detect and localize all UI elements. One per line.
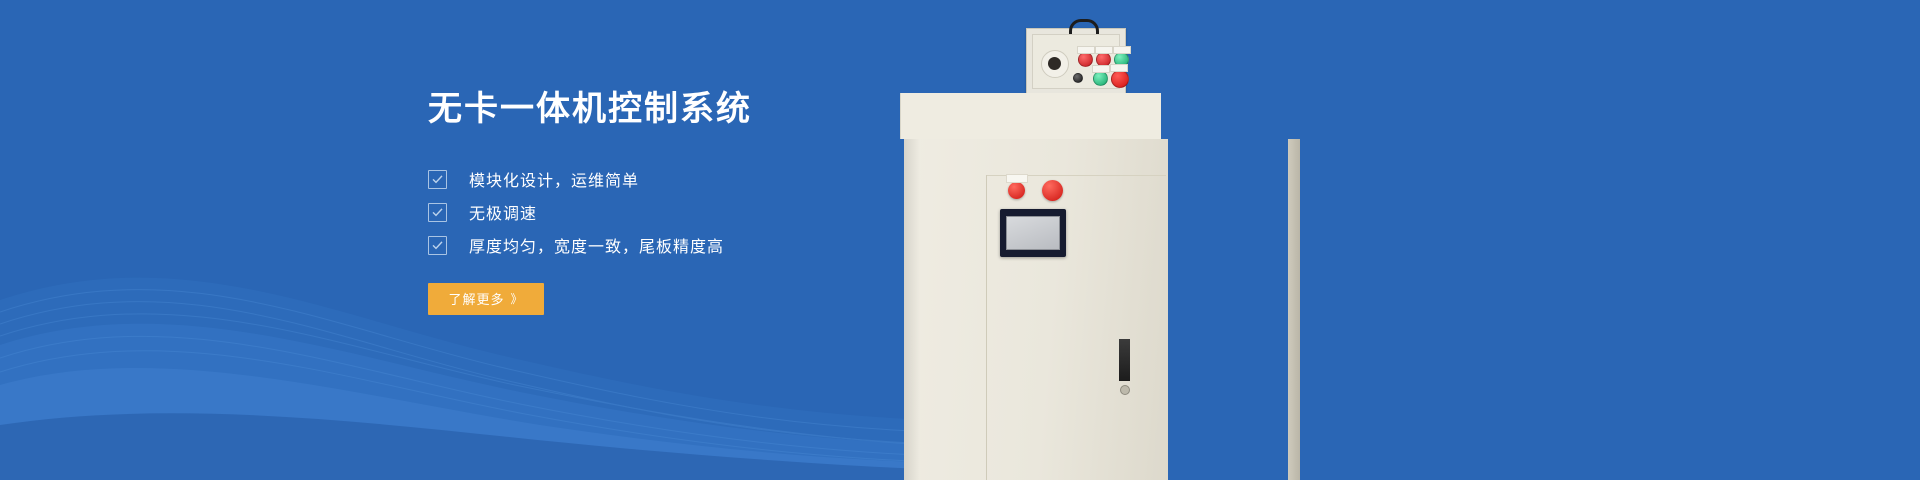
- control-box: [1026, 28, 1126, 95]
- checkbox-checked-icon: [428, 203, 447, 222]
- indicator-lamp-green-2[interactable]: [1093, 71, 1108, 86]
- feature-label: 无极调速: [469, 200, 537, 224]
- control-box-faceplate: [1032, 34, 1120, 89]
- hmi-screen-surface: [1006, 216, 1060, 250]
- cabinet-top: [900, 93, 1161, 139]
- cabinet-right-edge: [1288, 139, 1300, 480]
- cabinet-lock-icon[interactable]: [1120, 385, 1130, 395]
- learn-more-button[interactable]: 了解更多 》: [428, 283, 544, 315]
- hero-banner: 无卡一体机控制系统 模块化设计，运维简单 无极调速: [0, 0, 1920, 480]
- cabinet-body: [904, 139, 1168, 480]
- carry-handle-icon: [1069, 19, 1099, 34]
- cabinet-button-red-large[interactable]: [1042, 180, 1063, 201]
- machine-photo: [900, 0, 1300, 480]
- emergency-stop-button[interactable]: [1111, 70, 1129, 88]
- cabinet-vent: [1119, 339, 1130, 381]
- cabinet-shadow: [904, 139, 920, 480]
- checkbox-checked-icon: [428, 170, 447, 189]
- cabinet-door-seam: [986, 175, 987, 480]
- feature-label: 模块化设计，运维简单: [469, 167, 639, 191]
- chevron-right-icon: 》: [511, 290, 524, 307]
- indicator-lamp-red-1[interactable]: [1078, 52, 1093, 67]
- cabinet-button-red-small[interactable]: [1008, 182, 1025, 199]
- learn-more-label: 了解更多: [448, 289, 504, 308]
- feature-label: 厚度均匀，宽度一致，尾板精度高: [469, 233, 724, 257]
- hmi-touch-screen[interactable]: [1000, 209, 1066, 257]
- checkbox-checked-icon: [428, 236, 447, 255]
- indicator-lamp-black[interactable]: [1073, 73, 1083, 83]
- selector-knob[interactable]: [1041, 50, 1069, 78]
